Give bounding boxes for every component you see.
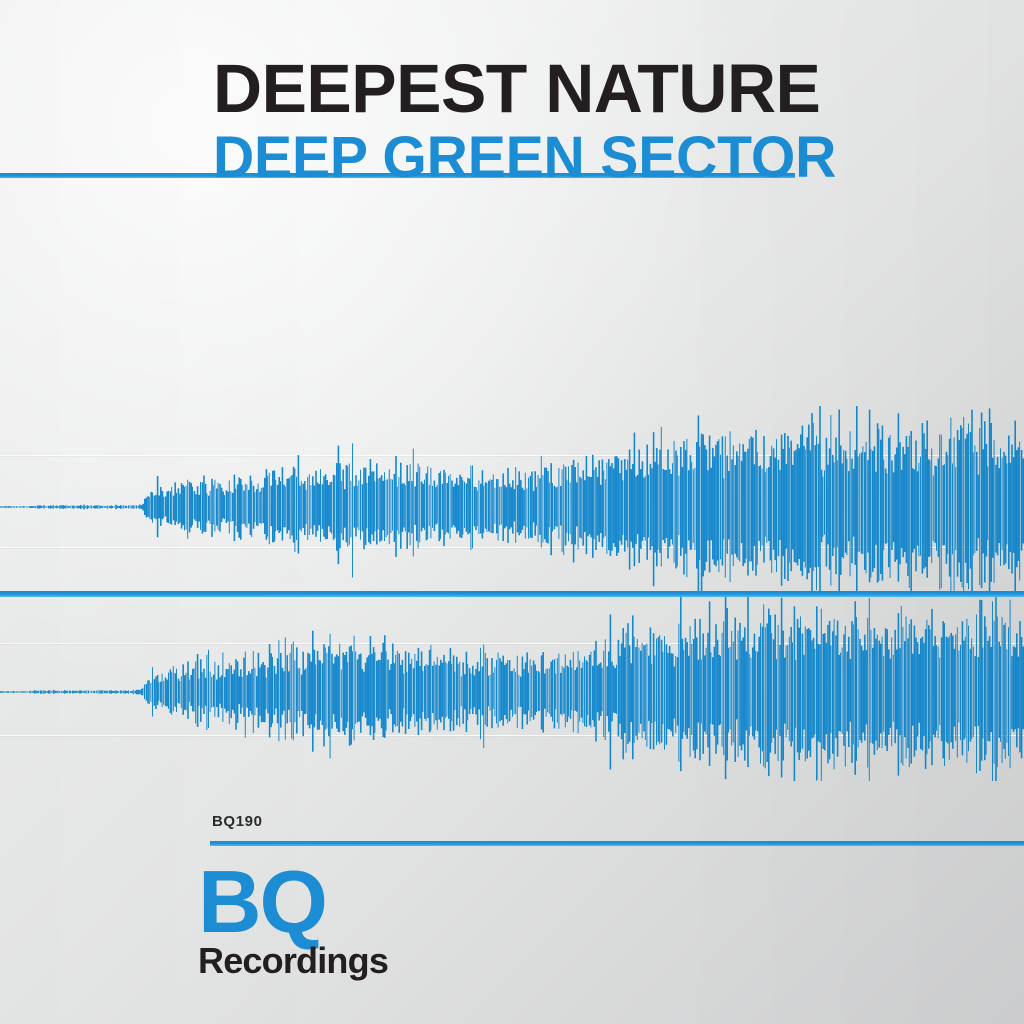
catalog-number: BQ190 [212, 813, 263, 830]
waveform-visual [0, 400, 1024, 790]
waveform-divider-rule [0, 591, 1024, 597]
label-logo: BQ Recordings [198, 858, 498, 980]
waveform-channel-right [0, 591, 1024, 781]
waveform-right-svg [0, 591, 1024, 781]
label-logo-word: Recordings [198, 942, 498, 980]
footer-block: BQ190 BQ Recordings [0, 800, 1024, 1024]
label-logo-mark: BQ [198, 858, 498, 946]
release-title: DEEP GREEN SECTOR [213, 126, 836, 190]
waveform-channel-left [0, 406, 1024, 596]
album-cover: DEEPEST NATURE DEEP GREEN SECTOR BQ190 B… [0, 0, 1024, 1024]
waveform-left-svg [0, 406, 1024, 596]
footer-divider-rule [210, 841, 1024, 846]
title-block: DEEPEST NATURE DEEP GREEN SECTOR [0, 52, 1024, 192]
artist-name: DEEPEST NATURE [213, 52, 820, 126]
